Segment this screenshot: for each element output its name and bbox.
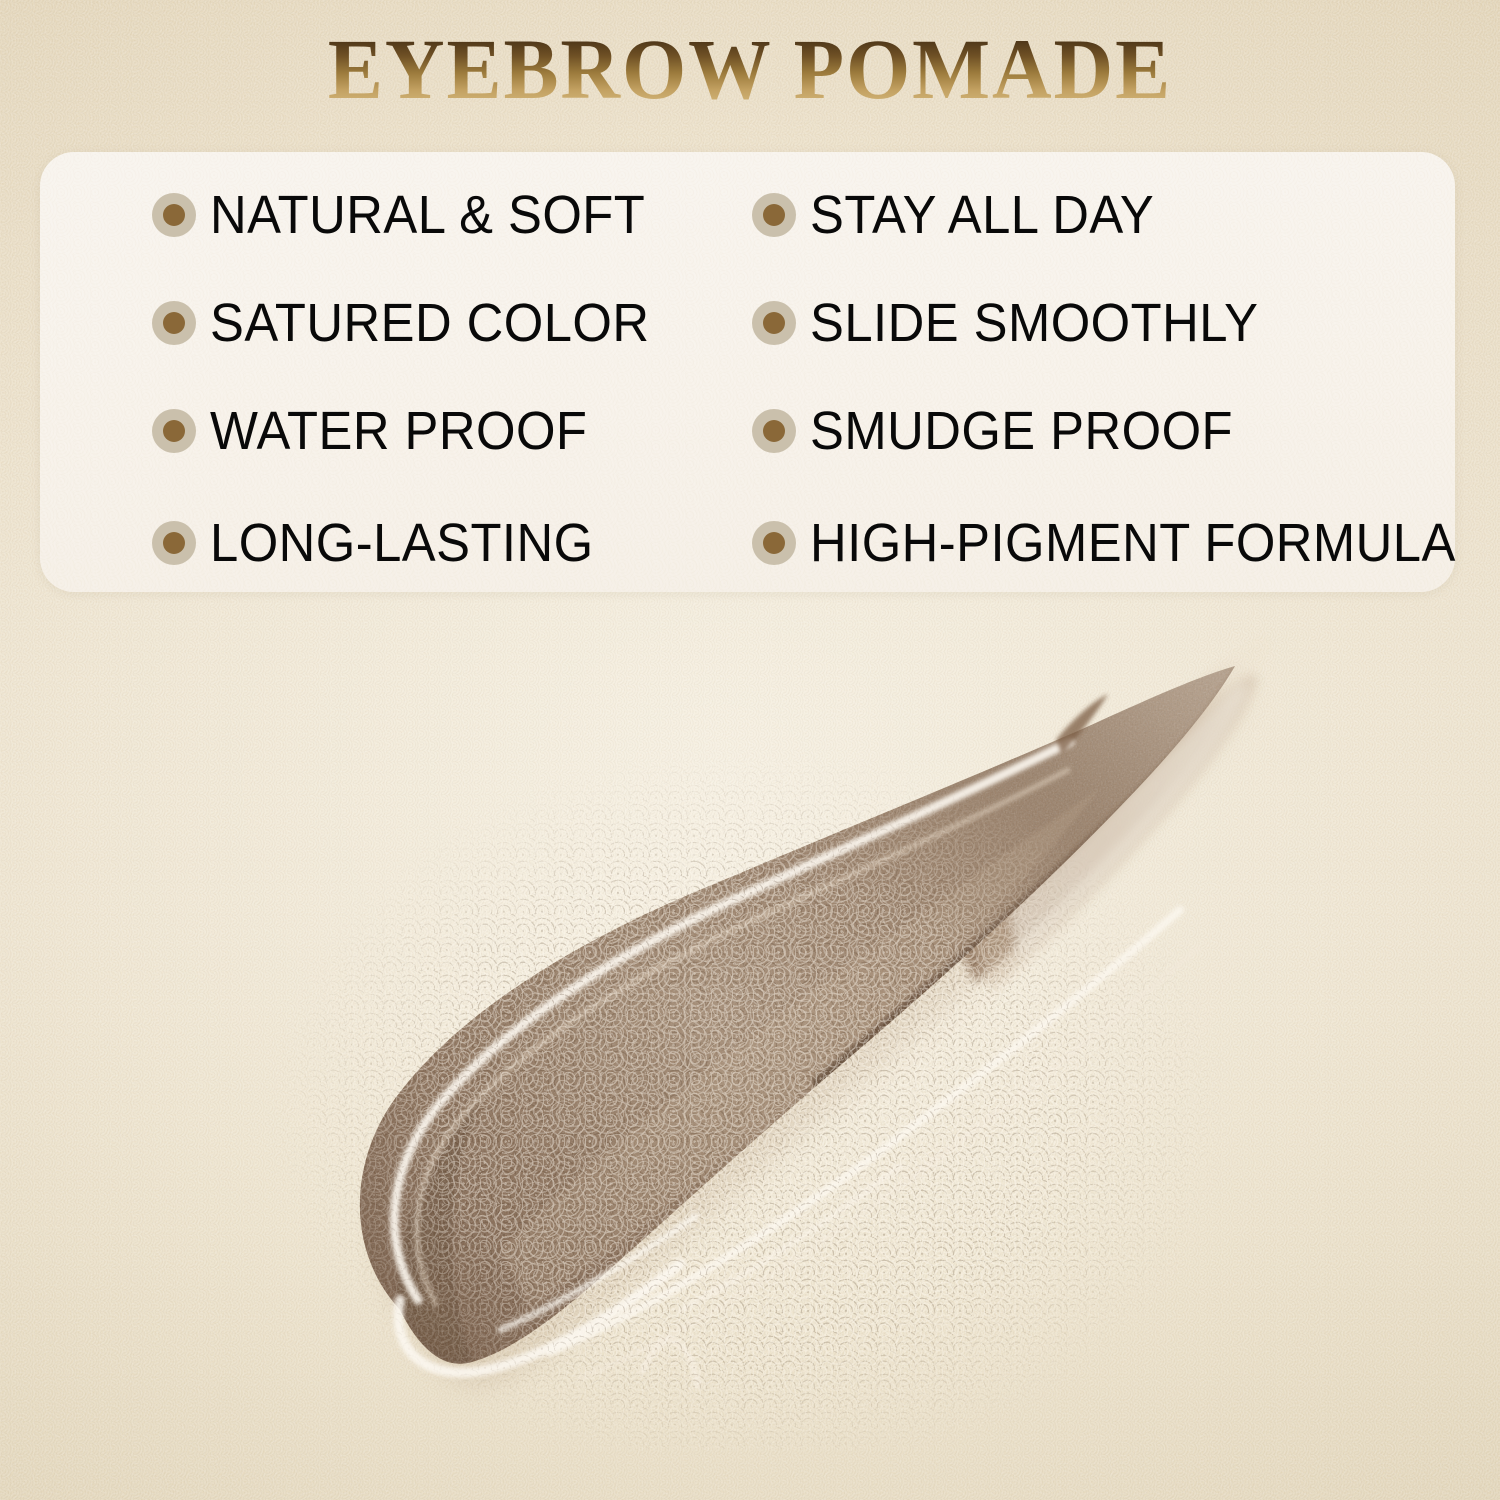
feature-label: LONG-LASTING <box>210 516 594 570</box>
bullet-dot-icon <box>152 409 196 453</box>
feature-label: HIGH-PIGMENT FORMULA <box>810 516 1456 570</box>
feature-item-smudge-proof: SMUDGE PROOF <box>752 404 1260 458</box>
feature-item-slide-smoothly: SLIDE SMOOTHLY <box>752 296 1287 350</box>
feature-item-long-lasting: LONG-LASTING <box>152 516 618 570</box>
bullet-dot-icon <box>152 301 196 345</box>
feature-label: SLIDE SMOOTHLY <box>810 296 1258 350</box>
bullet-dot-icon <box>752 193 796 237</box>
feature-label: SMUDGE PROOF <box>810 404 1233 458</box>
feature-label: STAY ALL DAY <box>810 188 1154 242</box>
features-panel: NATURAL & SOFT SATURED COLOR WATER PROOF… <box>40 152 1455 592</box>
product-infographic-page: EYEBROW POMADE NATURAL & SOFT SATURED CO… <box>0 0 1500 1500</box>
bullet-dot-icon <box>752 301 796 345</box>
feature-label: NATURAL & SOFT <box>210 188 645 242</box>
bullet-dot-icon <box>152 521 196 565</box>
bullet-dot-icon <box>752 521 796 565</box>
feature-item-water-proof: WATER PROOF <box>152 404 611 458</box>
bullet-dot-icon <box>752 409 796 453</box>
feature-item-high-pigment-formula: HIGH-PIGMENT FORMULA <box>752 516 1497 570</box>
bullet-dot-icon <box>152 193 196 237</box>
features-grid: NATURAL & SOFT SATURED COLOR WATER PROOF… <box>40 152 1455 592</box>
feature-item-satured-color: SATURED COLOR <box>152 296 678 350</box>
feature-item-natural-and-soft: NATURAL & SOFT <box>152 188 673 242</box>
feature-label: SATURED COLOR <box>210 296 650 350</box>
feature-item-stay-all-day: STAY ALL DAY <box>752 188 1176 242</box>
feature-label: WATER PROOF <box>210 404 587 458</box>
page-title: EYEBROW POMADE <box>30 26 1470 112</box>
